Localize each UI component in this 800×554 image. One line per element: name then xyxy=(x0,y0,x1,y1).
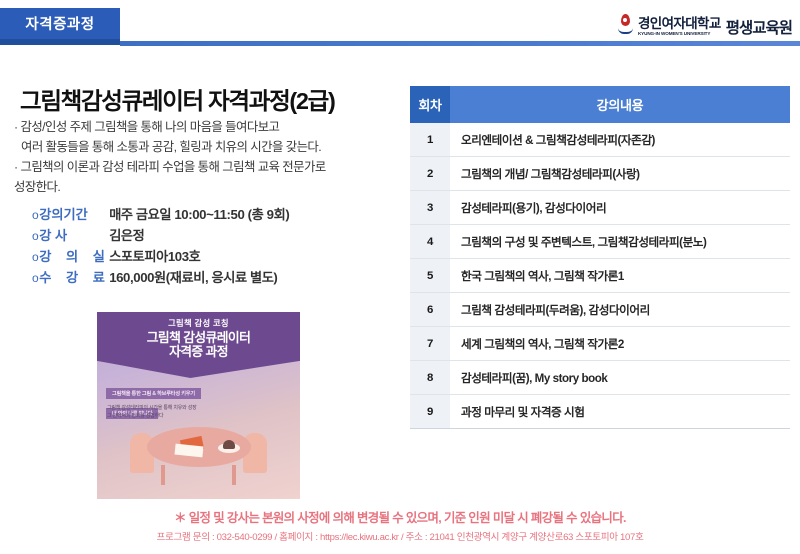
session-number: 4 xyxy=(410,225,450,259)
session-number: 5 xyxy=(410,259,450,293)
session-number: 1 xyxy=(410,123,450,157)
course-info-list: o 강의기간 매주 금요일 10:00~11:50 (총 9회) o 강 사 김… xyxy=(32,205,412,288)
info-row-fee: o 수 강 료 160,000원(재료비, 응시료 별도) xyxy=(32,268,412,289)
info-bullet-icon: o xyxy=(32,269,38,288)
description-line: · 그림책의 이론과 감성 테라피 수업을 통해 그림책 교육 전문가로 xyxy=(14,157,406,177)
info-value-fee: 160,000원(재료비, 응시료 별도) xyxy=(109,268,277,289)
session-content: 세계 그림책의 역사, 그림책 작가론2 xyxy=(450,327,790,361)
info-row-classroom: o 강 의 실 스포토피아103호 xyxy=(32,247,412,268)
info-label-period: 강의기간 xyxy=(39,205,109,226)
table-leg-shape xyxy=(161,465,165,485)
logo-division-name: 평생교육원 xyxy=(726,21,792,37)
cake-icon xyxy=(223,440,235,449)
description-line: 여러 활동들을 통해 소통과 공감, 힐링과 치유의 시간을 갖는다. xyxy=(14,137,406,157)
column-header-content: 강의내용 xyxy=(450,86,790,123)
table-row: 5 한국 그림책의 역사, 그림책 작가론1 xyxy=(410,259,790,293)
poster-tag-1: 그림책을 통한 그림 & 하브루타성 키우기 xyxy=(106,388,201,399)
schedule-notice: ＊ 일정 및 강사는 본원의 사정에 의해 변경될 수 있으며, 기준 인원 미… xyxy=(0,508,800,526)
poster-illustration xyxy=(97,415,300,489)
table-row: 7 세계 그림책의 역사, 그림책 작가론2 xyxy=(410,327,790,361)
logo-text-block: 경인여자대학교 KYUNG-IN WOMEN'S UNIVERSITY xyxy=(638,17,721,37)
university-logo: 경인여자대학교 KYUNG-IN WOMEN'S UNIVERSITY 평생교육… xyxy=(618,11,792,37)
description-line: · 감성/인성 주제 그림책을 통해 나의 마음을 들여다보고 xyxy=(14,117,406,137)
table-row: 6 그림책 감성테라피(두려움), 감성다이어리 xyxy=(410,293,790,327)
table-row: 8 감성테라피(꿈), My story book xyxy=(410,361,790,395)
course-description: · 감성/인성 주제 그림책을 통해 나의 마음을 들여다보고 여러 활동들을 … xyxy=(14,117,406,197)
table-header-row: 회차 강의내용 xyxy=(410,86,790,123)
table-leg-shape xyxy=(232,465,236,485)
logo-english-name: KYUNG-IN WOMEN'S UNIVERSITY xyxy=(638,31,721,37)
session-content: 그림책의 개념/ 그림책감성테라피(사랑) xyxy=(450,157,790,191)
info-label-fee: 수 강 료 xyxy=(39,268,109,289)
session-content: 그림책의 구성 및 주변텍스트, 그림책감성테라피(분노) xyxy=(450,225,790,259)
info-bullet-icon: o xyxy=(32,227,38,246)
category-tab[interactable]: 자격증과정 xyxy=(0,8,120,39)
info-value-classroom: 스포토피아103호 xyxy=(109,247,200,268)
course-poster-image: 그림책 감성 코칭 그림책 감성큐레이터 자격증 과정 그림책을 통한 그림 &… xyxy=(97,312,300,499)
session-number: 3 xyxy=(410,191,450,225)
poster-title-line1: 그림책 감성큐레이터 xyxy=(147,331,251,345)
session-number: 8 xyxy=(410,361,450,395)
table-row: 1 오리엔테이션 & 그림책감성테라피(자존감) xyxy=(410,123,790,157)
session-content: 감성테라피(꿈), My story book xyxy=(450,361,790,395)
description-line: 성장한다. xyxy=(14,177,406,197)
table-row: 2 그림책의 개념/ 그림책감성테라피(사랑) xyxy=(410,157,790,191)
page-title: 그림책감성큐레이터 자격과정(2급) xyxy=(20,82,335,116)
session-content: 그림책 감성테라피(두려움), 감성다이어리 xyxy=(450,293,790,327)
table-row: 3 감성테라피(용기), 감성다이어리 xyxy=(410,191,790,225)
info-label-instructor: 강 사 xyxy=(39,226,109,247)
column-header-session: 회차 xyxy=(410,86,450,123)
logo-korean-name: 경인여자대학교 xyxy=(638,17,721,31)
program-page: 자격증과정 경인여자대학교 KYUNG-IN WOMEN'S UNIVERSIT… xyxy=(0,0,800,554)
info-bullet-icon: o xyxy=(32,206,38,225)
session-content: 과정 마무리 및 자격증 시험 xyxy=(450,395,790,429)
session-number: 7 xyxy=(410,327,450,361)
header-rule-left xyxy=(0,39,120,45)
table-row: 4 그림책의 구성 및 주변텍스트, 그림책감성테라피(분노) xyxy=(410,225,790,259)
session-number: 6 xyxy=(410,293,450,327)
info-label-classroom: 강 의 실 xyxy=(39,247,109,268)
session-number: 2 xyxy=(410,157,450,191)
poster-title-line2: 자격증 과정 xyxy=(169,345,228,359)
category-tab-label: 자격증과정 xyxy=(25,13,94,34)
header-rule-right xyxy=(120,41,800,46)
poster-body-line1: 그림책 감성테라피의 시간을 통해 치유와 성장 xyxy=(107,404,277,412)
info-value-instructor: 김은정 xyxy=(109,226,144,247)
curriculum-table-head: 회차 강의내용 xyxy=(410,86,790,123)
curriculum-table-body: 1 오리엔테이션 & 그림책감성테라피(자존감) 2 그림책의 개념/ 그림책감… xyxy=(410,123,790,429)
session-number: 9 xyxy=(410,395,450,429)
info-row-instructor: o 강 사 김은정 xyxy=(32,226,412,247)
info-row-period: o 강의기간 매주 금요일 10:00~11:50 (총 9회) xyxy=(32,205,412,226)
contact-info: 프로그램 문의 : 032-540-0299 / 홈페이지 : https://… xyxy=(0,529,800,543)
poster-subtitle: 그림책 감성 코칭 xyxy=(168,317,229,329)
info-bullet-icon: o xyxy=(32,248,38,267)
info-value-period: 매주 금요일 10:00~11:50 (총 9회) xyxy=(109,205,289,226)
water-drop-icon xyxy=(618,14,633,36)
curriculum-table: 회차 강의내용 1 오리엔테이션 & 그림책감성테라피(자존감) 2 그림책의 … xyxy=(410,86,790,429)
session-content: 오리엔테이션 & 그림책감성테라피(자존감) xyxy=(450,123,790,157)
session-content: 한국 그림책의 역사, 그림책 작가론1 xyxy=(450,259,790,293)
session-content: 감성테라피(용기), 감성다이어리 xyxy=(450,191,790,225)
poster-banner: 그림책 감성 코칭 그림책 감성큐레이터 자격증 과정 xyxy=(97,312,300,378)
table-row: 9 과정 마무리 및 자격증 시험 xyxy=(410,395,790,429)
